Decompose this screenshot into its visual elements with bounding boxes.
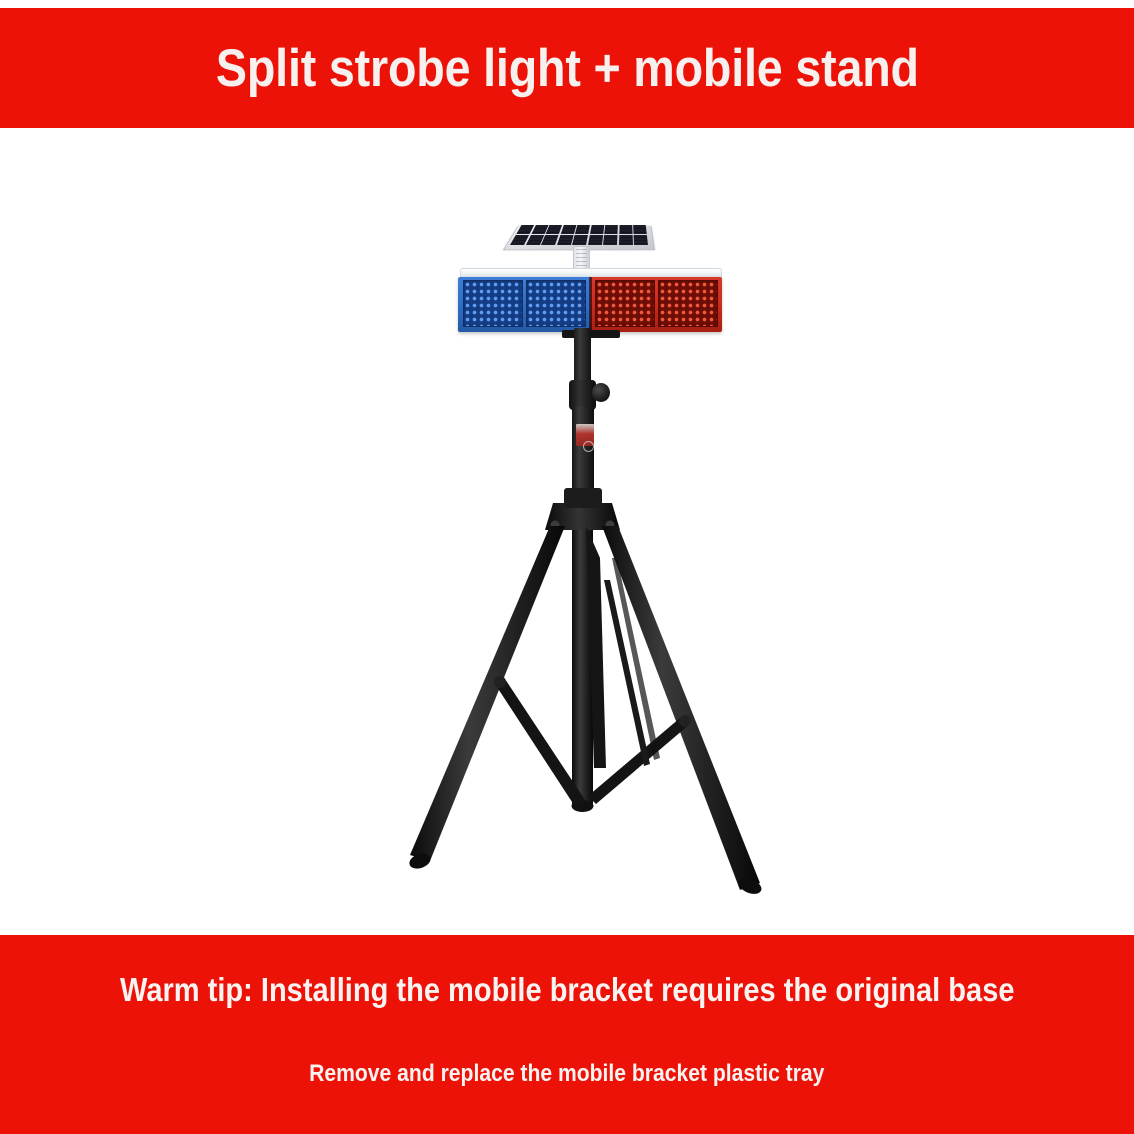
product-detail-page: Split strobe light + mobile stand bbox=[0, 0, 1134, 1134]
warm-tip-secondary: Remove and replace the mobile bracket pl… bbox=[309, 1062, 824, 1086]
tripod-hub-collar bbox=[564, 488, 602, 508]
page-title: Split strobe light + mobile stand bbox=[216, 42, 919, 95]
tripod-leg-left bbox=[410, 526, 565, 861]
product-photo bbox=[0, 128, 1134, 935]
tripod-leg-right bbox=[602, 526, 760, 890]
product-image-area bbox=[0, 128, 1134, 935]
footer-banner: Warm tip: Installing the mobile bracket … bbox=[0, 935, 1134, 1134]
tripod-brace-left bbox=[495, 679, 585, 805]
brace-pivot-left bbox=[494, 676, 506, 688]
brace-pivot-right bbox=[679, 715, 691, 727]
header-banner: Split strobe light + mobile stand bbox=[0, 8, 1134, 128]
warm-tip-primary: Warm tip: Installing the mobile bracket … bbox=[120, 973, 1015, 1006]
tripod-stand bbox=[0, 128, 1134, 935]
